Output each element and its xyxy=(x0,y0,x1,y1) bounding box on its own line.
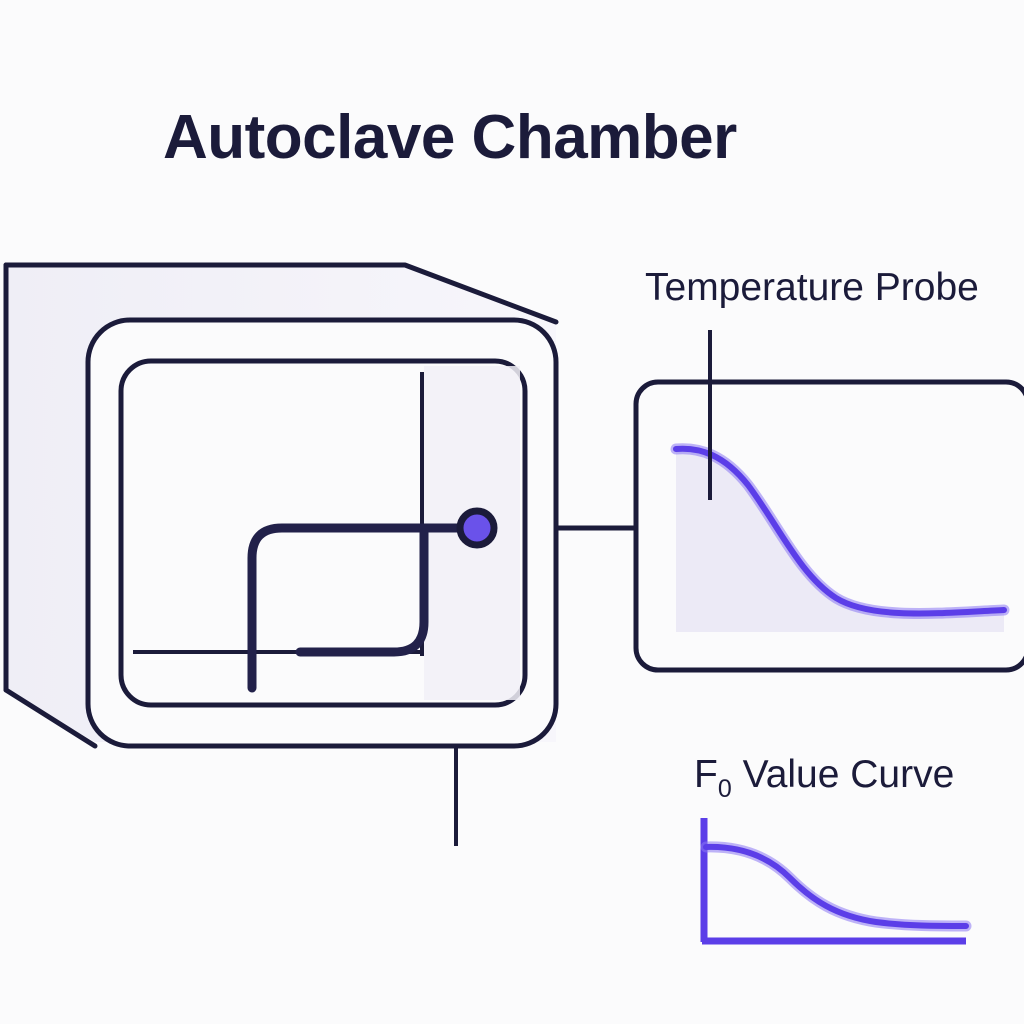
fo-value-curve-label: F0 Value Curve xyxy=(694,753,954,803)
diagram-canvas: Autoclave Chamber xyxy=(0,0,1024,1024)
fo-curve-glow xyxy=(706,847,966,926)
fo-value-chart xyxy=(702,818,966,942)
temperature-probe-label: Temperature Probe xyxy=(645,266,979,309)
fo-label-f: F xyxy=(694,753,718,796)
fo-label-subscript: 0 xyxy=(718,775,732,803)
probe-node[interactable] xyxy=(460,511,494,545)
fo-label-rest: Value Curve xyxy=(732,753,955,796)
page-title: Autoclave Chamber xyxy=(163,103,737,172)
autoclave-diagram: Autoclave Chamber xyxy=(0,0,1024,1024)
